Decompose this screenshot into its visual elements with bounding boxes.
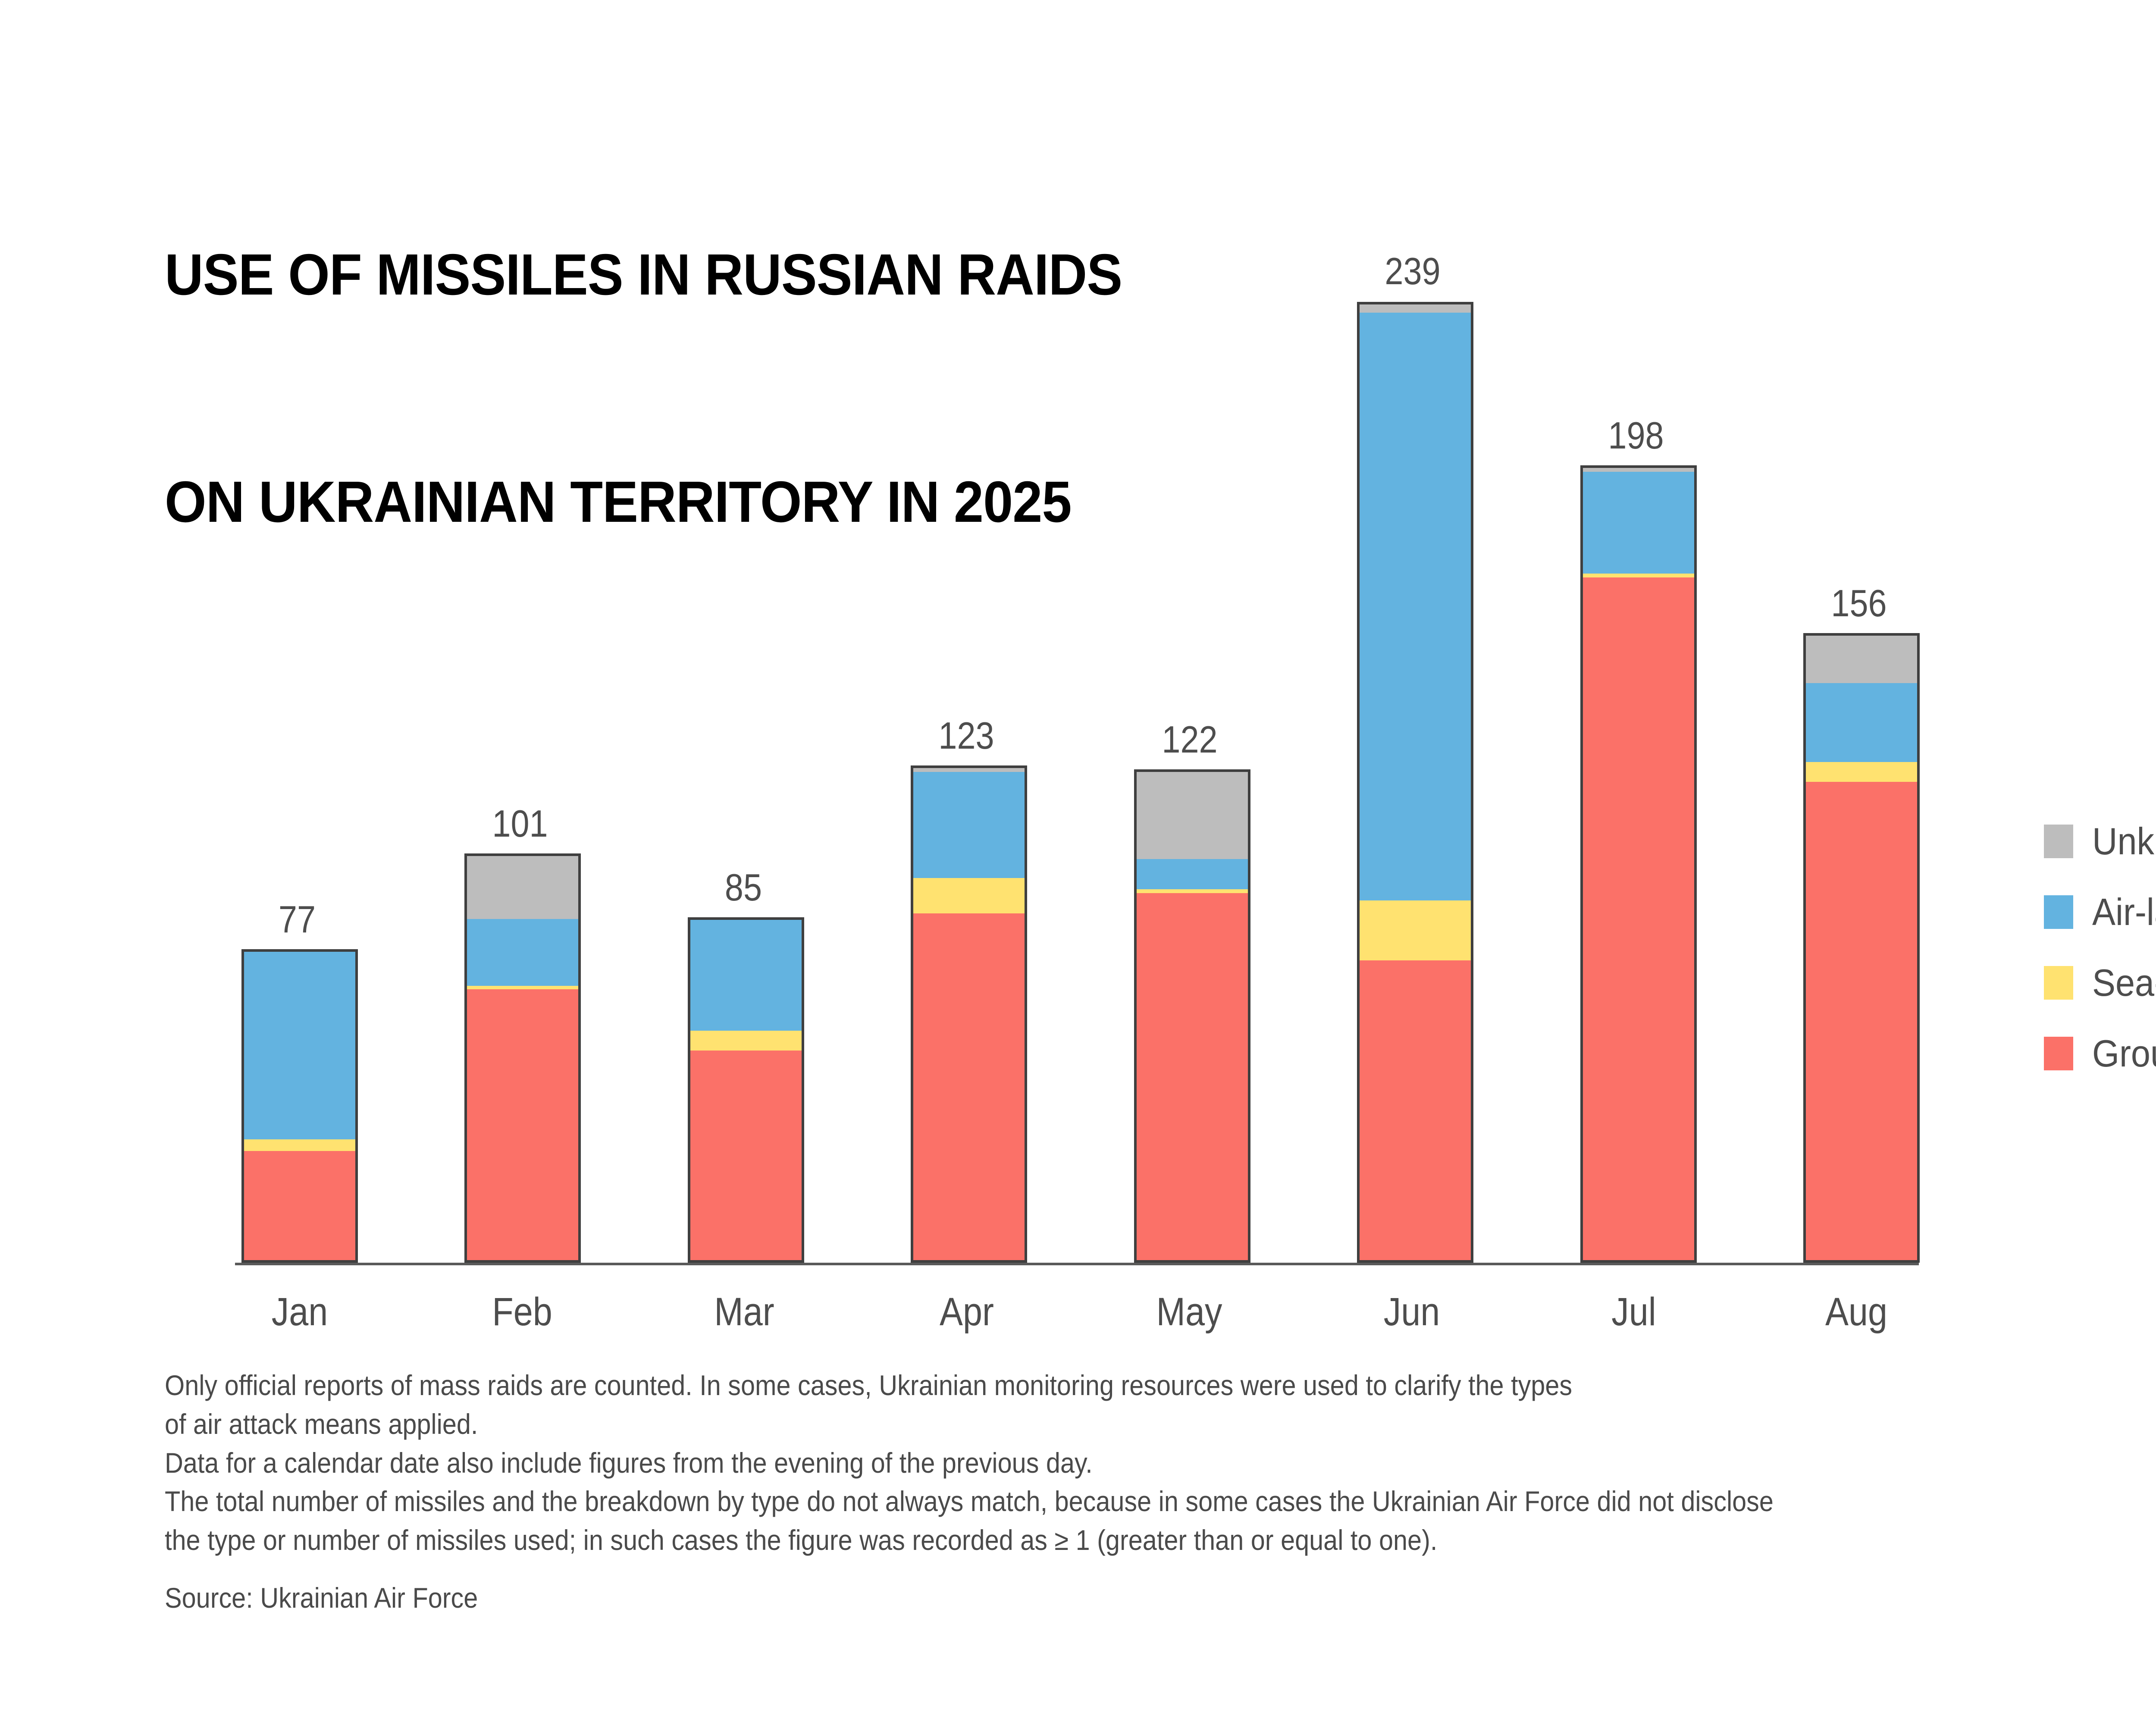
x-tick-label-mar: Mar [693,1289,796,1335]
x-tick-label-apr: Apr [915,1289,1018,1335]
bar-segment-sea[interactable] [1806,762,1917,782]
legend-item-unknown[interactable]: Unknown type [2044,819,2156,863]
bar-segment-sea[interactable] [1137,889,1248,893]
bar-segment-air[interactable] [1806,683,1917,762]
footnote-line-3: Data for a calendar date also include fi… [165,1444,2156,1483]
legend-label-unknown: Unknown type [2092,819,2156,863]
bar-segment-air[interactable] [690,920,802,1031]
bar-segment-ground[interactable] [690,1051,802,1260]
legend-swatch-sea [2044,966,2073,1000]
bar-segment-sea[interactable] [913,878,1025,913]
bar-segment-sea[interactable] [1583,574,1694,577]
footnote-line-5: the type or number of missiles used; in … [165,1521,2156,1560]
footnote-line-1: Only official reports of mass raids are … [165,1366,2156,1405]
bar-segment-ground[interactable] [913,913,1025,1260]
bar-segment-sea[interactable] [467,986,578,990]
source-note: Source: Ukrainian Air Force [165,1581,2156,1614]
bar-slot-feb[interactable]: 101 [464,302,576,1263]
x-axis-line [235,1263,1919,1265]
bar-segment-air[interactable] [1360,313,1471,900]
bar-segment-ground[interactable] [1137,893,1248,1260]
bar-segment-unknown[interactable] [1137,772,1248,859]
bar-segment-unknown[interactable] [467,856,578,919]
bar-segment-unknown[interactable] [1806,636,1917,683]
bar-segment-air[interactable] [1583,472,1694,574]
bar-segment-air[interactable] [913,772,1025,878]
bar-value-label: 101 [492,802,548,846]
bar-segment-unknown[interactable] [1583,468,1694,472]
footnotes: Only official reports of mass raids are … [165,1366,2156,1614]
bar-segment-sea[interactable] [244,1139,355,1151]
bar-slot-jul[interactable]: 198 [1580,302,1692,1263]
bar-segment-ground[interactable] [467,989,578,1260]
bar-value-label: 123 [939,714,994,758]
x-tick-label-jun: Jun [1360,1289,1463,1335]
footnote-line-4: The total number of missiles and the bre… [165,1482,2156,1521]
bar-stack[interactable] [911,765,1027,1263]
legend-swatch-ground [2044,1037,2073,1070]
bar-slot-mar[interactable]: 85 [688,302,799,1263]
bar-value-label: 156 [1831,581,1887,625]
bar-value-label: 239 [1385,249,1441,293]
legend-item-ground[interactable]: Ground-launched [2044,1032,2156,1076]
bar-stack[interactable] [1134,769,1250,1263]
bar-segment-air[interactable] [244,952,355,1139]
bar-stack[interactable] [1580,465,1697,1263]
legend-swatch-air [2044,895,2073,929]
bar-value-label: 85 [725,866,762,910]
legend-item-sea[interactable]: Sea-launched [2044,961,2156,1005]
bar-segment-ground[interactable] [244,1151,355,1260]
legend-label-air: Air-launched [2092,890,2156,934]
bar-segment-air[interactable] [1137,859,1248,889]
x-tick-label-feb: Feb [471,1289,573,1335]
bar-segment-unknown[interactable] [913,768,1025,772]
legend-swatch-unknown [2044,825,2073,858]
bar-slot-may[interactable]: 122 [1134,302,1245,1263]
x-tick-label-jan: Jan [248,1289,351,1335]
bar-slot-jun[interactable]: 239 [1357,302,1468,1263]
x-tick-label-aug: Aug [1805,1289,1908,1335]
bar-slot-apr[interactable]: 123 [911,302,1022,1263]
bar-segment-air[interactable] [467,919,578,986]
footnote-line-2: of air attack means applied. [165,1405,2156,1444]
bar-stack[interactable] [1357,302,1473,1263]
legend-item-air[interactable]: Air-launched [2044,890,2156,934]
x-tick-label-may: May [1138,1289,1241,1335]
bar-stack[interactable] [464,853,581,1263]
bar-segment-sea[interactable] [1360,900,1471,960]
bar-stack[interactable] [241,949,358,1263]
bar-segment-unknown[interactable] [1360,304,1471,313]
x-tick-label-jul: Jul [1583,1289,1685,1335]
bar-slot-aug[interactable]: 156 [1803,302,1915,1263]
bar-segment-sea[interactable] [690,1031,802,1051]
bar-segment-ground[interactable] [1360,960,1471,1260]
legend-label-sea: Sea-launched [2092,961,2156,1005]
bar-stack[interactable] [688,917,804,1263]
legend-label-ground: Ground-launched [2092,1032,2156,1076]
bar-slot-jan[interactable]: 77 [241,302,353,1263]
chart-legend: Unknown typeAir-launchedSea-launchedGrou… [2044,819,2156,1076]
bar-value-label: 122 [1162,718,1217,762]
bar-group: 7710185123122239198156 [241,302,1915,1263]
bar-value-label: 198 [1608,414,1664,458]
bar-segment-ground[interactable] [1806,782,1917,1260]
bar-stack[interactable] [1803,633,1920,1263]
x-axis-labels: JanFebMarAprMayJunJulAug [241,1289,1915,1335]
bar-value-label: 77 [279,897,316,941]
bar-segment-ground[interactable] [1583,577,1694,1260]
